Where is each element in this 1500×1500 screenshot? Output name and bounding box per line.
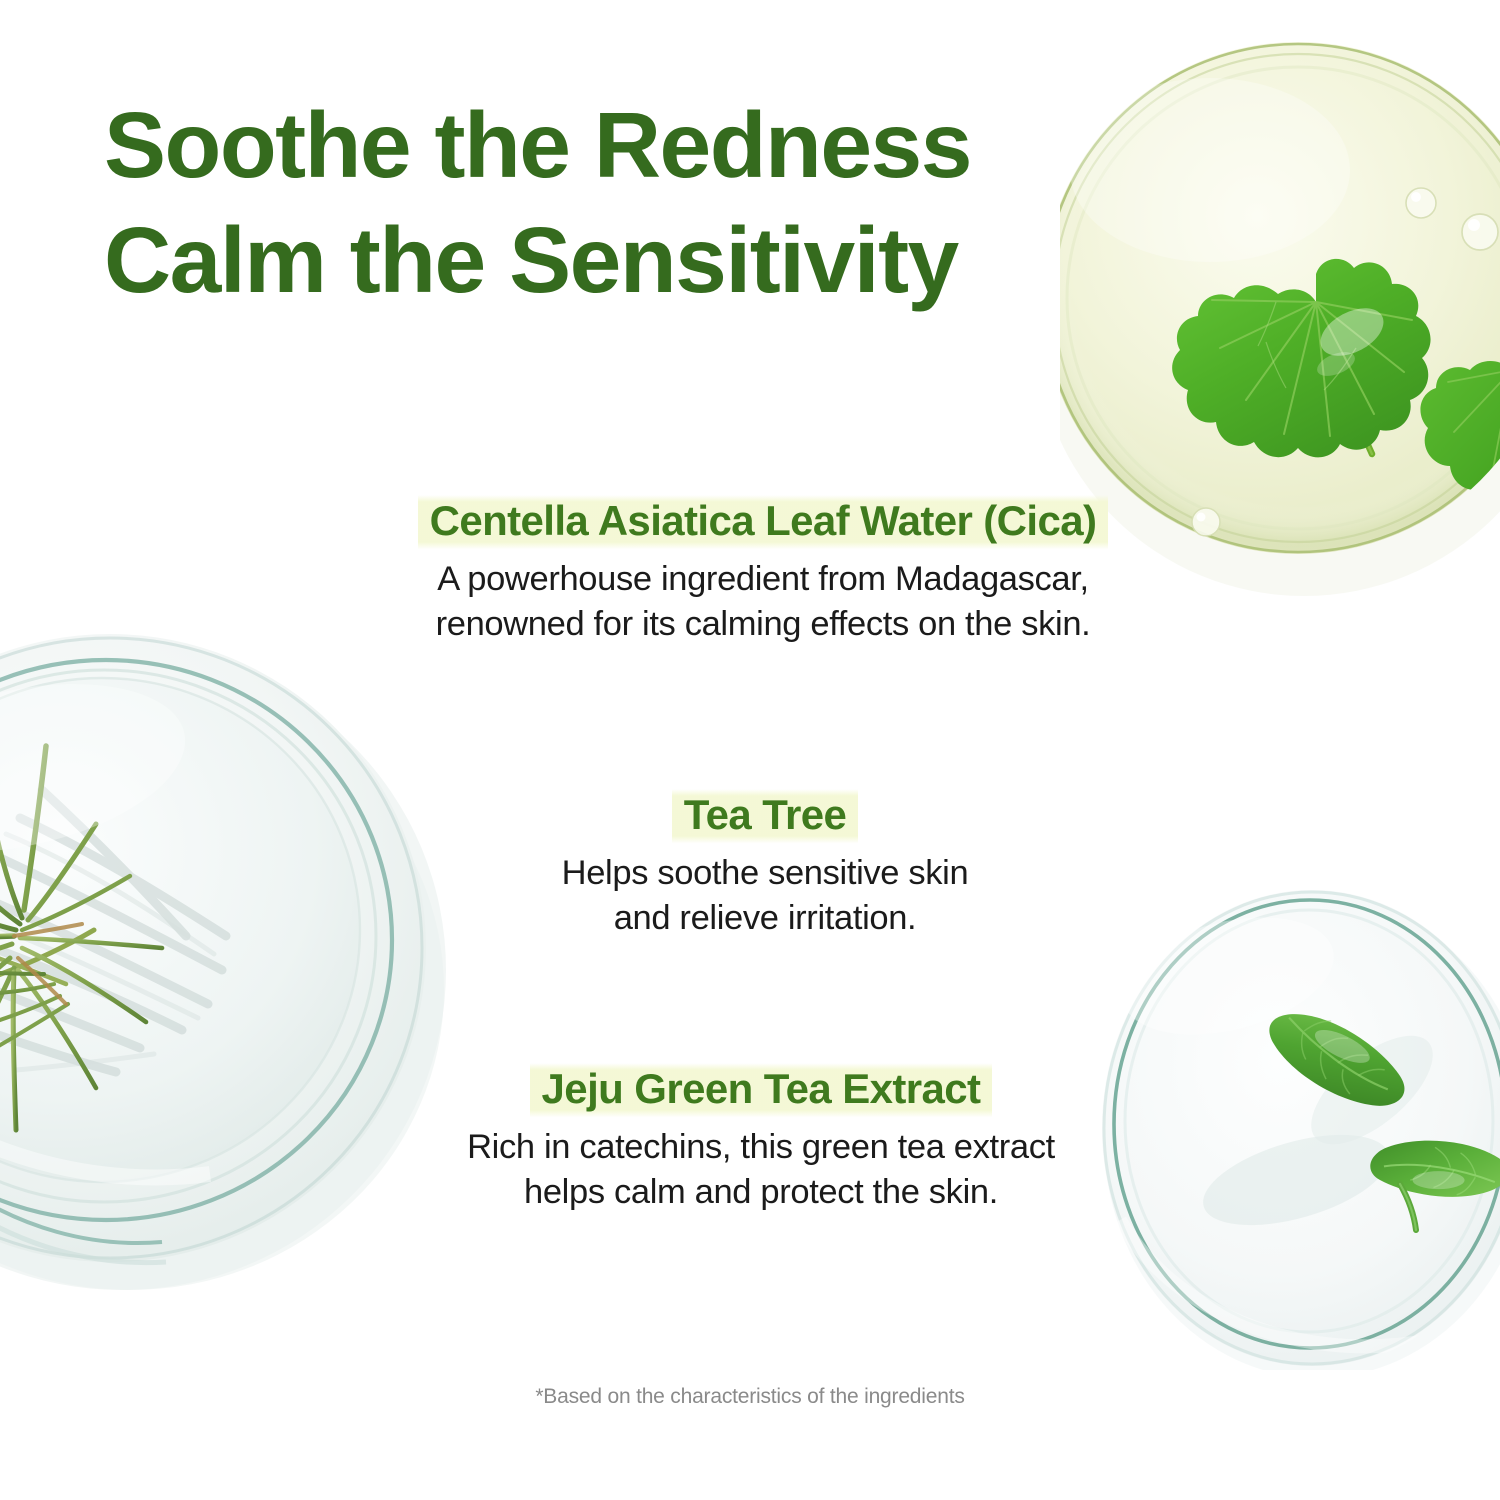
footnote-disclaimer: *Based on the characteristics of the ing… [0, 1385, 1500, 1409]
ingredient-title-jeju-green-tea: Jeju Green Tea Extract [530, 1062, 993, 1118]
green-tea-petri-dish [1100, 880, 1500, 1370]
ingredient-block-jeju-green-tea: Jeju Green Tea Extract Rich in catechins… [390, 1062, 1132, 1214]
ingredient-block-tea-tree: Tea Tree Helps soothe sensitive skin and… [470, 788, 1060, 940]
ingredient-title-tea-tree: Tea Tree [672, 788, 859, 844]
ingredient-description-tea-tree: Helps soothe sensitive skin and relieve … [470, 851, 1060, 940]
ingredient-description-cica: A powerhouse ingredient from Madagascar,… [300, 557, 1226, 646]
tea-tree-petri-dish [0, 618, 450, 1318]
ingredient-description-jeju-green-tea: Rich in catechins, this green tea extrac… [390, 1125, 1132, 1214]
ingredient-block-cica: Centella Asiatica Leaf Water (Cica) A po… [300, 494, 1226, 646]
ingredient-title-cica: Centella Asiatica Leaf Water (Cica) [418, 494, 1109, 550]
infographic-canvas: Soothe the Redness Calm the Sensitivity … [0, 0, 1500, 1500]
page-title: Soothe the Redness Calm the Sensitivity [104, 88, 1064, 319]
